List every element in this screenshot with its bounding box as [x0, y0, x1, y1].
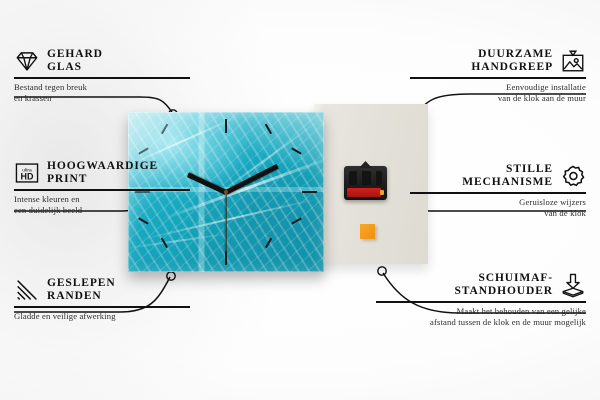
diamond-icon: [14, 48, 40, 74]
feature-subtitle-line1: Bestand tegen breuk: [14, 82, 190, 93]
feature-title-line2: RANDEN: [47, 290, 116, 303]
feature-title-line2: HANDGREEP: [471, 61, 553, 74]
feature-subtitle-line2: en krassen: [14, 93, 190, 104]
feature-geslepen-randen: GESLEPEN RANDEN Gladde en veilige afwerk…: [14, 277, 190, 322]
tick-3: [302, 191, 317, 193]
feature-subtitle-line2: afstand tussen de klok en de muur mogeli…: [376, 317, 586, 328]
feature-duurzame-handgreep: DUURZAME HANDGREEP Eenvoudige installati…: [410, 48, 586, 104]
feature-title-line2: GLAS: [47, 61, 103, 74]
feature-title-line1: GESLEPEN: [47, 277, 116, 290]
feature-rule: [14, 306, 190, 308]
feature-title-line1: STILLE: [462, 163, 553, 176]
tick-12: [225, 119, 227, 133]
gear-icon: [560, 163, 586, 189]
feature-gehard-glas: GEHARD GLAS Bestand tegen breuk en krass…: [14, 48, 190, 104]
infographic-canvas: GEHARD GLAS Bestand tegen breuk en krass…: [0, 0, 600, 400]
picture-frame-icon: [560, 48, 586, 74]
feature-subtitle-line1: Intense kleuren en: [14, 194, 190, 205]
ultra-hd-icon: ultra HD: [14, 160, 40, 186]
feature-title-line1: GEHARD: [47, 48, 103, 61]
spacer-down-arrow-icon: [560, 272, 586, 298]
feature-subtitle-line1: Maakt het behouden van een gelijke: [376, 306, 586, 317]
feature-hoogwaardige-print: ultra HD HOOGWAARDIGE PRINT Intense kleu…: [14, 160, 190, 216]
feature-stille-mechanisme: STILLE MECHANISME Geruisloze wijzers van…: [410, 163, 586, 219]
feature-title-line1: HOOGWAARDIGE: [47, 160, 158, 173]
feature-subtitle-line1: Eenvoudige installatie: [410, 82, 586, 93]
quartz-clock-movement: [344, 166, 387, 200]
feature-rule: [410, 77, 586, 79]
feature-schuimaf-standhouder: SCHUIMAF- STANDHOUDER Maakt het behouden…: [376, 272, 586, 328]
feature-rule: [376, 301, 586, 303]
movement-battery: [347, 188, 381, 197]
feature-title-line2: MECHANISME: [462, 176, 553, 189]
feature-title-line1: DUURZAME: [471, 48, 553, 61]
feature-subtitle-line2: van de klok aan de muur: [410, 93, 586, 104]
ultra-hd-icon-big-text: HD: [21, 172, 34, 182]
foam-spacer-pad: [360, 224, 375, 239]
movement-vents: [349, 171, 382, 185]
feature-title-line2: PRINT: [47, 173, 158, 186]
clock-pivot: [224, 190, 228, 194]
second-hand: [225, 192, 226, 254]
feature-rule: [14, 189, 190, 191]
feature-subtitle-line2: van de klok: [410, 208, 586, 219]
feature-subtitle-line1: Geruisloze wijzers: [410, 197, 586, 208]
feature-rule: [14, 77, 190, 79]
beveled-edges-icon: [14, 277, 40, 303]
feature-title-line2: STANDHOUDER: [454, 285, 553, 298]
feature-rule: [410, 192, 586, 194]
feature-subtitle-line2: een duidelijk beeld: [14, 205, 190, 216]
feature-title-line1: SCHUIMAF-: [454, 272, 553, 285]
feature-subtitle-line1: Gladde en veilige afwerking: [14, 311, 190, 322]
